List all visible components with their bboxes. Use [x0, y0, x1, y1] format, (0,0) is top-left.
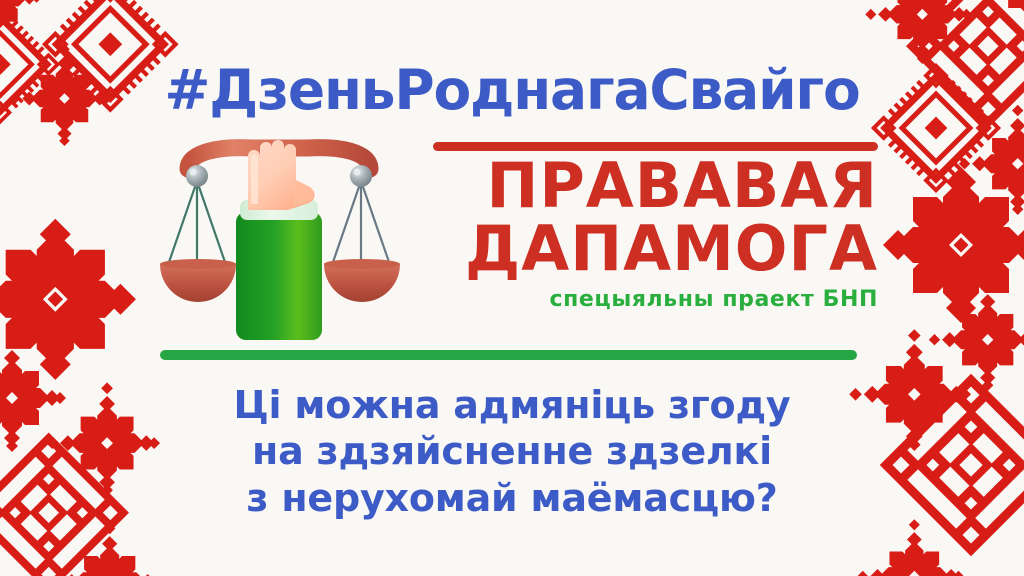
question-line-2: на здзяйсненне здзелкі	[0, 428, 1024, 474]
question-line-3: з нерухомай маёмасцю?	[0, 475, 1024, 521]
scales-of-justice-icon	[148, 134, 410, 346]
ornament-bottom-left-star	[51, 523, 161, 576]
question-text: Ці можна адмяніць згоду на здзяйсненне з…	[0, 382, 1024, 521]
ornament-right-star-lower-a	[929, 281, 1024, 391]
ornament-left-star-large	[0, 219, 136, 380]
ornament-left-star-top-partial	[0, 0, 42, 46]
ornament-right-edge-star-top	[978, 0, 1024, 31]
ornament-right-star-large	[883, 167, 1024, 323]
wordmark-line-1: ПРАВАВАЯ	[403, 157, 878, 216]
question-line-1: Ці можна адмяніць згоду	[0, 382, 1024, 428]
poster-canvas: #ДзеньРоднагаСвайго	[0, 0, 1024, 576]
logo-block: ПРАВАВАЯ ДАПАМОГА спецыяльны праект БНП	[148, 132, 876, 364]
wordmark-line-2: ДАПАМОГА	[403, 220, 878, 279]
ornament-top-right-star	[865, 0, 972, 64]
logo-subtitle: спецыяльны праект БНП	[403, 287, 878, 312]
green-divider-bar	[160, 350, 857, 360]
wordmark: ПРАВАВАЯ ДАПАМОГА спецыяльны праект БНП	[403, 142, 878, 312]
scales-icon-svg	[148, 134, 410, 346]
hashtag-heading: #ДзеньРоднагаСвайго	[0, 58, 1024, 122]
ornament-bottom-right-star	[857, 519, 964, 576]
